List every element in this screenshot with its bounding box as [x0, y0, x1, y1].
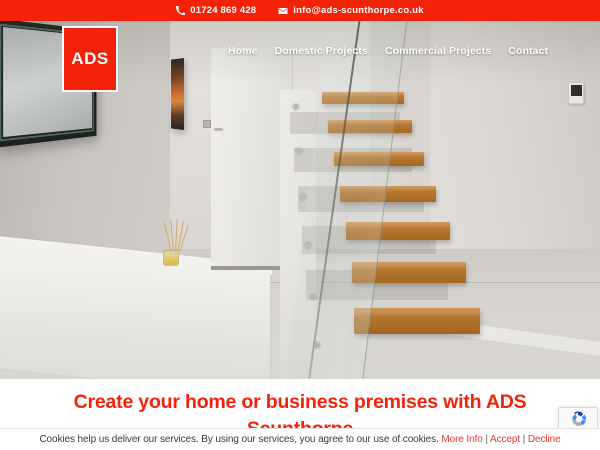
- main-navigation: Home Domestic Projects Commercial Projec…: [228, 45, 548, 57]
- site-header: ADS Home Domestic Projects Commercial Pr…: [0, 21, 600, 93]
- phone-icon: [176, 6, 185, 15]
- decline-cookies-button[interactable]: Decline: [528, 434, 561, 445]
- email-link[interactable]: info@ads-scunthorpe.co.uk: [278, 5, 423, 16]
- cookie-separator: |: [485, 434, 488, 445]
- more-info-link[interactable]: More Info: [441, 434, 482, 445]
- phone-number: 01724 869 428: [190, 5, 256, 16]
- nav-item-commercial-projects[interactable]: Commercial Projects: [385, 45, 491, 57]
- nav-item-domestic-projects[interactable]: Domestic Projects: [275, 45, 368, 57]
- top-contact-bar: 01724 869 428 info@ads-scunthorpe.co.uk: [0, 0, 600, 21]
- cookie-banner: Cookies help us deliver our services. By…: [0, 428, 600, 450]
- email-address: info@ads-scunthorpe.co.uk: [293, 5, 423, 16]
- logo-text: ADS: [71, 49, 108, 69]
- site-logo[interactable]: ADS: [62, 26, 118, 92]
- cookie-separator: |: [523, 434, 526, 445]
- nav-item-home[interactable]: Home: [228, 45, 258, 57]
- cookie-message: Cookies help us deliver our services. By…: [39, 434, 438, 445]
- envelope-icon: [278, 7, 288, 15]
- accept-cookies-button[interactable]: Accept: [490, 434, 520, 445]
- cookie-text: Cookies help us deliver our services. By…: [39, 434, 560, 445]
- page-root: 01724 869 428 info@ads-scunthorpe.co.uk …: [0, 0, 600, 450]
- headline-line-1: Create your home or business premises wi…: [74, 391, 527, 413]
- phone-link[interactable]: 01724 869 428: [176, 5, 256, 16]
- nav-item-contact[interactable]: Contact: [508, 45, 548, 57]
